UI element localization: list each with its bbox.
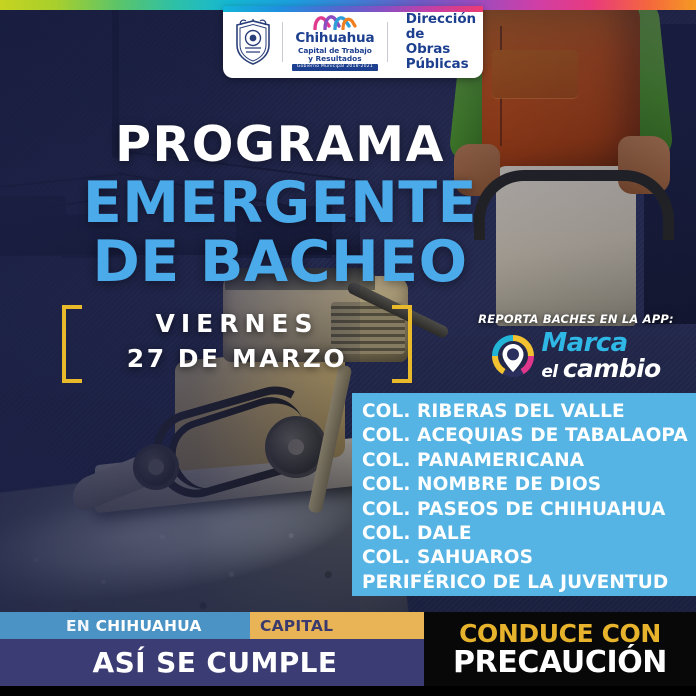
location-pin-icon xyxy=(491,334,535,378)
header-logo-card: Chihuahua Capital de Trabajo y Resultado… xyxy=(223,6,483,78)
footer-navy-band: ASÍ SE CUMPLE xyxy=(0,639,424,686)
footer-bar: EN CHIHUAHUA CAPITAL ASÍ SE CUMPLE CONDU… xyxy=(0,612,696,686)
app-name-cambio: cambio xyxy=(563,354,661,383)
date-text: VIERNES 27 DE MARZO xyxy=(62,309,412,373)
warning-line-2: PRECAUCIÓN xyxy=(453,648,667,678)
footer-capital-word: CAPITAL xyxy=(260,617,333,635)
marca-el-cambio-logo[interactable]: Marca el cambio xyxy=(460,332,692,381)
brand-government-tag: Gobierno Municipal 2018-2021 xyxy=(292,64,378,71)
list-item: PERIFÉRICO DE LA JUVENTUD xyxy=(362,571,696,595)
app-report-block: REPORTA BACHES EN LA APP: Marca el cambi… xyxy=(460,312,692,381)
date-day-number: 27 DE MARZO xyxy=(62,344,412,373)
app-name-part-2: el cambio xyxy=(541,357,660,381)
footer-slogan: ASÍ SE CUMPLE xyxy=(93,646,338,679)
list-item: COL. RIBERAS DEL VALLE xyxy=(362,400,696,424)
app-label: REPORTA BACHES EN LA APP: xyxy=(460,312,692,326)
brand-name: Chihuahua xyxy=(295,32,374,46)
poster-root: Chihuahua Capital de Trabajo y Resultado… xyxy=(0,0,696,696)
headline-line-2: EMERGENTE xyxy=(0,174,560,233)
list-item: COL. PANAMERICANA xyxy=(362,449,696,473)
brand-subtitle-line2: y Resultados xyxy=(308,55,362,62)
footer-left-block: EN CHIHUAHUA CAPITAL ASÍ SE CUMPLE xyxy=(0,612,424,686)
header-gradient-accent xyxy=(223,6,483,12)
list-item: COL. ACEQUIAS DE TABALAOPA xyxy=(362,424,696,448)
list-item: COL. PASEOS DE CHIHUAHUA xyxy=(362,498,696,522)
headline-line-3: DE BACHEO xyxy=(0,233,560,292)
app-name: Marca el cambio xyxy=(541,332,660,381)
app-name-part-1: Marca xyxy=(541,332,660,356)
department-line-2: Obras Públicas xyxy=(406,42,483,72)
department-line-1: Dirección de xyxy=(406,12,483,42)
headline-line-1: PROGRAMA xyxy=(0,120,560,170)
footer-yellow-band: CAPITAL xyxy=(250,612,424,639)
chihuahua-arcs-icon xyxy=(312,13,358,30)
colonias-list-panel: COL. RIBERAS DEL VALLE COL. ACEQUIAS DE … xyxy=(352,393,696,596)
app-name-el: el xyxy=(541,362,562,382)
list-item: COL. DALE xyxy=(362,522,696,546)
list-item: COL. NOMBRE DE DIOS xyxy=(362,473,696,497)
chihuahua-coat-of-arms-icon xyxy=(233,19,273,65)
chihuahua-brand-logo: Chihuahua Capital de Trabajo y Resultado… xyxy=(292,13,378,71)
headline-block: PROGRAMA EMERGENTE DE BACHEO xyxy=(0,120,560,293)
header-divider xyxy=(282,22,283,62)
date-day-name: VIERNES xyxy=(62,309,412,338)
footer-warning-block: CONDUCE CON PRECAUCIÓN xyxy=(424,612,696,686)
bottom-rainbow-strip xyxy=(0,686,696,696)
footer-chihuahua-word: CHIHUAHUA xyxy=(96,617,202,635)
footer-en-chihuahua: EN CHIHUAHUA xyxy=(66,617,202,635)
list-item: COL. SAHUAROS xyxy=(362,546,696,570)
department-name: Dirección de Obras Públicas xyxy=(406,12,483,72)
date-block: VIERNES 27 DE MARZO xyxy=(62,305,412,383)
footer-en-word: EN xyxy=(66,617,96,635)
warning-line-1: CONDUCE CON xyxy=(459,621,661,646)
header-divider-2 xyxy=(387,22,388,62)
